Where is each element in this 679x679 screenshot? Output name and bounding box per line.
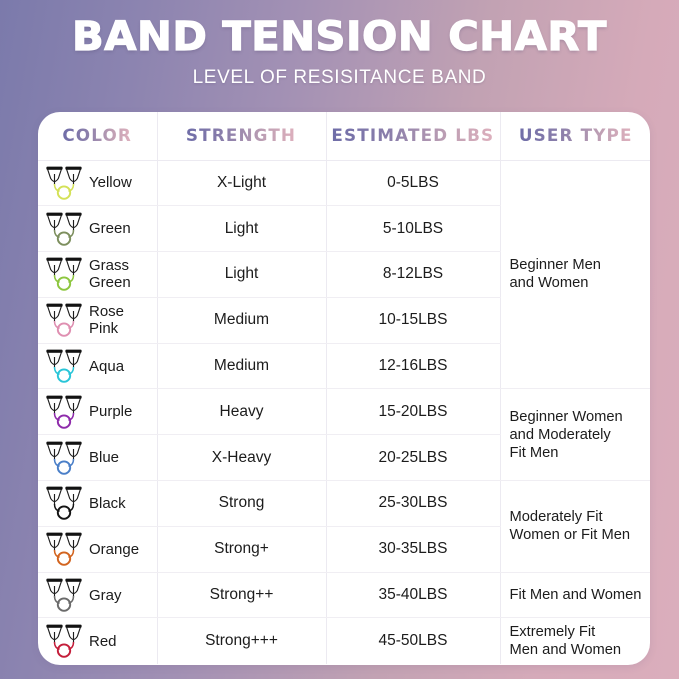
column-header-estimated-lbs: ESTIMATED LBS: [326, 112, 500, 160]
cell-estimated-lbs: 25-30LBS: [326, 481, 500, 527]
cell-estimated-lbs: 12-16LBS: [326, 343, 500, 389]
cell-estimated-lbs: 45-50LBS: [326, 618, 500, 664]
color-label: Rose Pink: [89, 303, 124, 337]
cell-estimated-lbs: 15-20LBS: [326, 389, 500, 435]
page-title: BAND TENSION CHART: [0, 14, 679, 60]
cell-user-type: Moderately Fit Women or Fit Men: [500, 481, 650, 573]
cell-strength: Medium: [157, 343, 326, 389]
cell-estimated-lbs: 30-35LBS: [326, 526, 500, 572]
cell-color: Green: [38, 206, 157, 252]
column-header-strength: STRENGTH: [157, 112, 326, 160]
cell-estimated-lbs: 10-15LBS: [326, 297, 500, 343]
cell-strength: X-Light: [157, 160, 326, 206]
color-wrap: Yellow: [44, 165, 153, 201]
color-label: Red: [89, 633, 117, 650]
cell-estimated-lbs: 5-10LBS: [326, 206, 500, 252]
cell-color: Red: [38, 618, 157, 664]
band-tension-table-card: COLOR STRENGTH ESTIMATED LBS USER TYPE Y…: [38, 112, 650, 665]
color-label: Purple: [89, 403, 132, 420]
resistance-band-icon: [44, 440, 84, 476]
cell-estimated-lbs: 0-5LBS: [326, 160, 500, 206]
color-wrap: Orange: [44, 531, 153, 567]
resistance-band-icon: [44, 348, 84, 384]
band-tension-table: COLOR STRENGTH ESTIMATED LBS USER TYPE Y…: [38, 112, 650, 664]
color-wrap: Rose Pink: [44, 302, 153, 338]
page-subtitle: LEVEL OF RESISITANCE BAND: [0, 66, 679, 90]
cell-user-type: Extremely Fit Men and Women: [500, 618, 650, 664]
cell-estimated-lbs: 8-12LBS: [326, 252, 500, 298]
color-label: Aqua: [89, 358, 124, 375]
table-row: PurpleHeavy15-20LBSBeginner Women and Mo…: [38, 389, 650, 435]
cell-strength: Strong: [157, 481, 326, 527]
column-header-user-type: USER TYPE: [500, 112, 650, 160]
cell-strength: Light: [157, 252, 326, 298]
color-wrap: Blue: [44, 440, 153, 476]
cell-color: Blue: [38, 435, 157, 481]
table-header-row: COLOR STRENGTH ESTIMATED LBS USER TYPE: [38, 112, 650, 160]
table-body: YellowX-Light0-5LBSBeginner Men and Wome…: [38, 160, 650, 664]
cell-strength: X-Heavy: [157, 435, 326, 481]
resistance-band-icon: [44, 302, 84, 338]
color-label: Black: [89, 495, 126, 512]
cell-color: Grass Green: [38, 252, 157, 298]
color-wrap: Purple: [44, 394, 153, 430]
cell-color: Black: [38, 481, 157, 527]
cell-strength: Strong++: [157, 572, 326, 618]
resistance-band-icon: [44, 394, 84, 430]
color-wrap: Aqua: [44, 348, 153, 384]
cell-color: Yellow: [38, 160, 157, 206]
cell-user-type: Beginner Men and Women: [500, 160, 650, 389]
table-row: YellowX-Light0-5LBSBeginner Men and Wome…: [38, 160, 650, 206]
cell-color: Orange: [38, 526, 157, 572]
resistance-band-icon: [44, 485, 84, 521]
cell-estimated-lbs: 20-25LBS: [326, 435, 500, 481]
cell-user-type: Beginner Women and Moderately Fit Men: [500, 389, 650, 481]
color-wrap: Red: [44, 623, 153, 659]
resistance-band-icon: [44, 623, 84, 659]
table-header: COLOR STRENGTH ESTIMATED LBS USER TYPE: [38, 112, 650, 160]
color-label: Orange: [89, 541, 139, 558]
cell-color: Purple: [38, 389, 157, 435]
table-row: GrayStrong++35-40LBSFit Men and Women: [38, 572, 650, 618]
color-wrap: Black: [44, 485, 153, 521]
color-label: Green: [89, 220, 131, 237]
table-row: BlackStrong25-30LBSModerately Fit Women …: [38, 481, 650, 527]
resistance-band-icon: [44, 165, 84, 201]
color-wrap: Green: [44, 211, 153, 247]
cell-user-type: Fit Men and Women: [500, 572, 650, 618]
cell-color: Rose Pink: [38, 297, 157, 343]
column-header-color-label: COLOR: [62, 126, 132, 145]
page-header: BAND TENSION CHART LEVEL OF RESISITANCE …: [0, 0, 679, 90]
color-label: Yellow: [89, 174, 132, 191]
color-label: Gray: [89, 587, 122, 604]
cell-strength: Medium: [157, 297, 326, 343]
color-label: Grass Green: [89, 257, 131, 291]
table-row: RedStrong+++45-50LBSExtremely Fit Men an…: [38, 618, 650, 664]
cell-strength: Strong+: [157, 526, 326, 572]
cell-color: Aqua: [38, 343, 157, 389]
column-header-estimated-lbs-label: ESTIMATED LBS: [332, 126, 495, 145]
color-wrap: Gray: [44, 577, 153, 613]
cell-color: Gray: [38, 572, 157, 618]
resistance-band-icon: [44, 256, 84, 292]
cell-strength: Strong+++: [157, 618, 326, 664]
column-header-color: COLOR: [38, 112, 157, 160]
column-header-user-type-label: USER TYPE: [518, 126, 632, 145]
resistance-band-icon: [44, 531, 84, 567]
resistance-band-icon: [44, 211, 84, 247]
cell-estimated-lbs: 35-40LBS: [326, 572, 500, 618]
column-header-strength-label: STRENGTH: [186, 126, 296, 145]
color-wrap: Grass Green: [44, 256, 153, 292]
cell-strength: Heavy: [157, 389, 326, 435]
resistance-band-icon: [44, 577, 84, 613]
color-label: Blue: [89, 449, 119, 466]
cell-strength: Light: [157, 206, 326, 252]
